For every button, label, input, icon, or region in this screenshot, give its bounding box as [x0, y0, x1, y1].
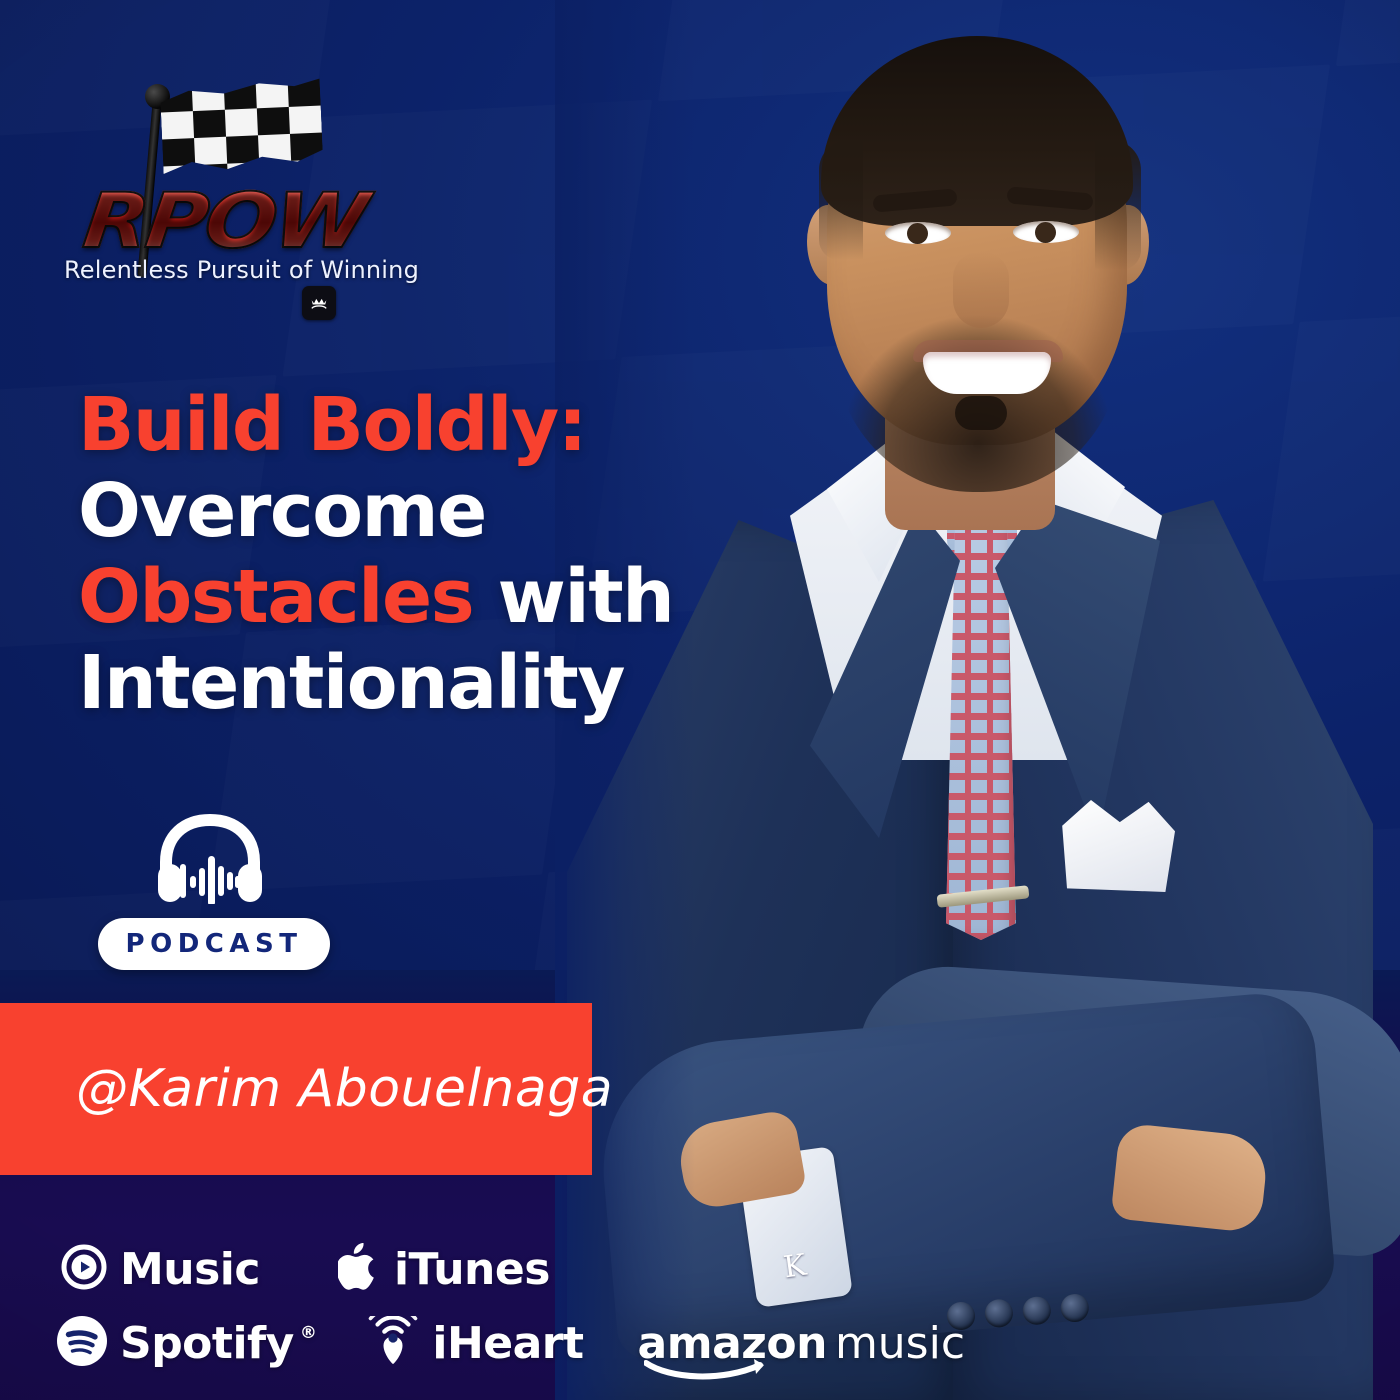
crown-emblem-icon	[302, 286, 336, 320]
hair-side-left	[819, 140, 863, 260]
title-line-4: Intentionality	[78, 640, 738, 726]
platform-spotify[interactable]: Spotify ®	[56, 1315, 316, 1372]
smile-teeth	[923, 352, 1051, 394]
platform-amazon-music-label: music	[835, 1318, 965, 1369]
host-handle: @Karim Abouelnaga	[76, 1059, 613, 1119]
logo-wordmark: RPOW	[84, 182, 374, 260]
platform-iheart[interactable]: iHeart	[366, 1316, 583, 1371]
sleeve-button	[1060, 1293, 1090, 1323]
goatee	[955, 396, 1007, 430]
title-line-3-rest: with	[473, 554, 673, 640]
rpow-logo: RPOW Relentless Pursuit of Winning	[62, 78, 462, 308]
platform-badges: Music iTunes	[0, 1232, 780, 1380]
platform-amazon-music[interactable]: amazon music	[638, 1318, 966, 1369]
nose	[953, 252, 1009, 328]
iheartradio-icon	[366, 1316, 420, 1371]
platform-row-2: Spotify ® iHeart	[0, 1306, 780, 1380]
title-line-3-accent: Obstacles	[78, 554, 473, 640]
platform-itunes-label: iTunes	[394, 1244, 550, 1295]
spotify-registered-mark: ®	[300, 1323, 317, 1343]
headphones-waveform-icon	[152, 812, 268, 904]
cufflink-monogram: K	[778, 1248, 812, 1286]
amazon-music-icon: amazon	[638, 1318, 827, 1369]
title-line-1: Build Boldly:	[78, 382, 738, 468]
podcast-cover-art: K RPOW Relentless Pursuit of Winning	[0, 0, 1400, 1400]
platform-row-1: Music iTunes	[0, 1232, 780, 1306]
spotify-icon	[56, 1315, 108, 1372]
platform-music-label: Music	[120, 1244, 260, 1295]
pupil-left	[907, 223, 928, 244]
sleeve-button	[1022, 1296, 1052, 1326]
hair-side-right	[1095, 140, 1141, 270]
pupil-right	[1035, 222, 1056, 243]
platform-iheart-label: iHeart	[432, 1318, 583, 1369]
sleeve-button	[984, 1298, 1014, 1328]
platform-itunes[interactable]: iTunes	[338, 1242, 550, 1297]
platform-spotify-label: Spotify	[120, 1318, 294, 1369]
logo-wordmark-text: RPOW	[79, 182, 413, 260]
title-line-3: Obstacles with	[78, 554, 738, 640]
podcast-badge-label: PODCAST	[126, 929, 303, 959]
episode-title: Build Boldly: Overcome Obstacles with In…	[78, 382, 738, 726]
google-play-music-icon	[60, 1243, 108, 1296]
logo-tagline: Relentless Pursuit of Winning	[64, 256, 419, 284]
platform-music[interactable]: Music	[60, 1243, 260, 1296]
title-line-2: Overcome	[78, 468, 738, 554]
podcast-badge: PODCAST	[98, 918, 330, 970]
apple-itunes-icon	[338, 1242, 382, 1297]
host-handle-banner: @Karim Abouelnaga	[0, 1003, 592, 1175]
